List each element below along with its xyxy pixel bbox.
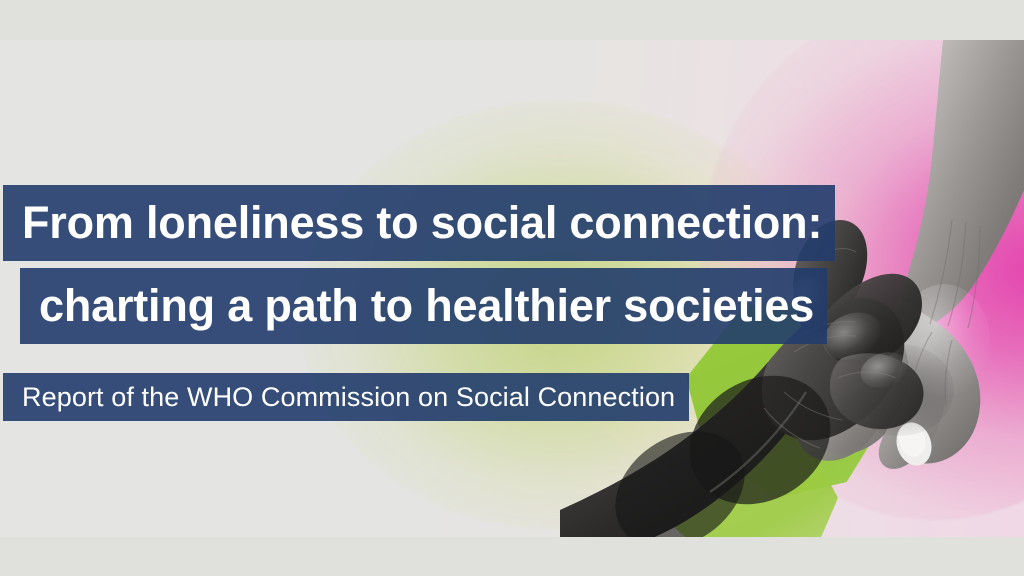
top-margin-strip	[0, 0, 1024, 40]
report-cover: From loneliness to social connection: ch…	[0, 0, 1024, 576]
title-line-1: From loneliness to social connection:	[3, 185, 835, 261]
title-line-2: charting a path to healthier societies	[20, 268, 827, 344]
report-subtitle: Report of the WHO Commission on Social C…	[3, 373, 689, 421]
bottom-margin-strip	[0, 537, 1024, 576]
